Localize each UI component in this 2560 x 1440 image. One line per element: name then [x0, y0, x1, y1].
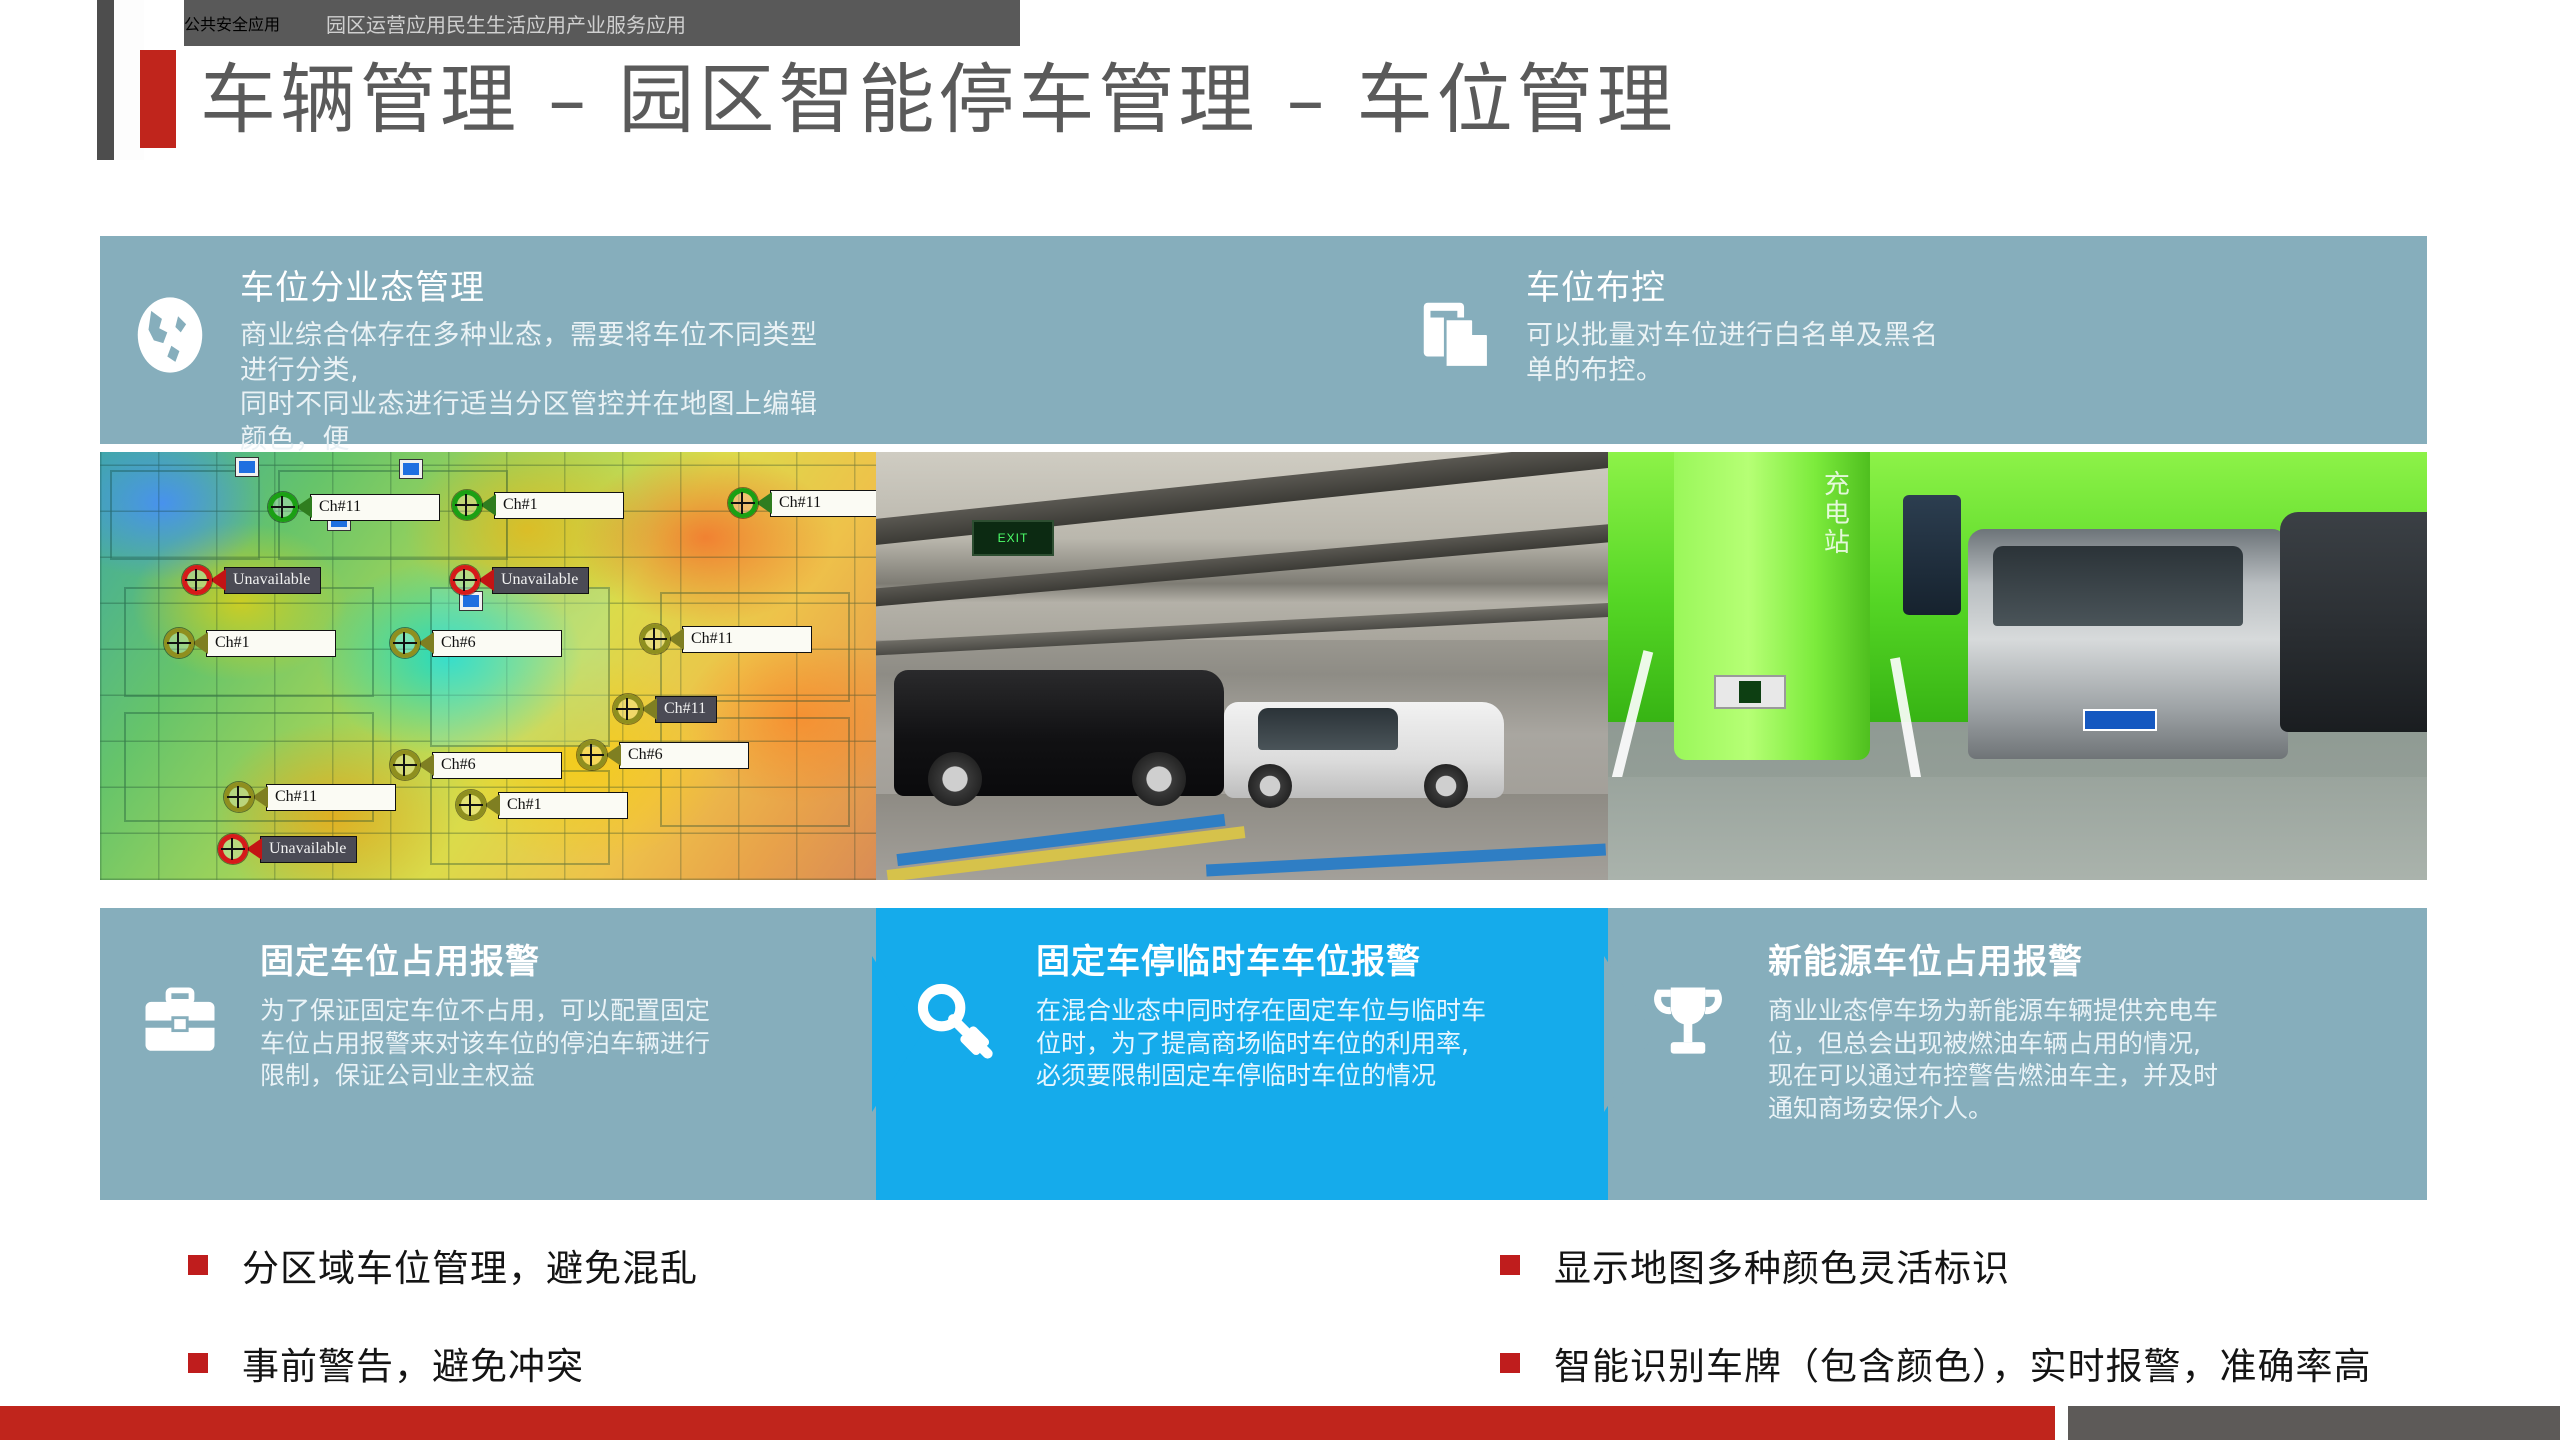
briefcase-icon	[100, 934, 260, 1068]
marker-label: Ch#11	[310, 494, 440, 521]
bullet-list-right: 显示地图多种颜色灵活标识 智能识别车牌（包含颜色），实时报警，准确率高	[1500, 1238, 2372, 1434]
crosshair-marker-icon	[164, 628, 194, 658]
callout-arrow-icon	[641, 698, 657, 720]
heatmap-marker[interactable]: Ch#11	[613, 694, 717, 724]
crosshair-marker-icon	[452, 490, 482, 520]
marker-label: Unavailable	[224, 567, 321, 594]
bullet-text: 分区域车位管理，避免混乱	[242, 1238, 698, 1292]
heatmap-marker[interactable]: Unavailable	[450, 565, 589, 595]
callout-arrow-icon	[605, 744, 621, 766]
bullet-list-left: 分区域车位管理，避免混乱 事前警告，避免冲突	[188, 1238, 698, 1434]
callout-arrow-icon	[192, 632, 208, 654]
marker-label: Ch#6	[432, 752, 562, 779]
callout-arrow-icon	[756, 492, 772, 514]
panel-ev-slot-alarm: 新能源车位占用报警 商业业态停车场为新能源车辆提供充电车 位，但总会出现被燃油车…	[1608, 908, 2427, 1200]
marker-label: Ch#11	[682, 626, 812, 653]
page-title: 车辆管理 – 园区智能停车管理 – 车位管理	[200, 38, 1677, 148]
callout-arrow-icon	[668, 628, 684, 650]
bullet-square-icon	[188, 1353, 208, 1373]
crosshair-marker-icon	[268, 492, 298, 522]
crosshair-marker-icon	[224, 782, 254, 812]
callout-arrow-icon	[252, 786, 268, 808]
callout-arrow-icon	[480, 494, 496, 516]
panel-body: 为了保证固定车位不占用，可以配置固定 车位占用报警来对该车位的停泊车辆进行 限制…	[260, 995, 850, 1093]
chevron-divider	[1604, 956, 1654, 1112]
garage-photo[interactable]: EXIT	[876, 452, 1608, 880]
crosshair-marker-icon	[640, 624, 670, 654]
panel-body: 商业业态停车场为新能源车辆提供充电车 位，但总会出现被燃油车辆占用的情况, 现在…	[1768, 995, 2368, 1125]
heatmap-marker[interactable]: Ch#6	[390, 628, 562, 658]
list-item: 智能识别车牌（包含颜色），实时报警，准确率高	[1500, 1336, 2372, 1390]
marker-label: Ch#11	[770, 490, 876, 517]
bullet-square-icon	[1500, 1255, 1520, 1275]
crosshair-marker-icon	[613, 694, 643, 724]
panel-heading: 新能源车位占用报警	[1768, 934, 2368, 983]
crosshair-marker-icon	[728, 488, 758, 518]
feature-card-parking-control: 车位布控 可以批量对车位进行白名单及黑名 单的布控。	[1386, 236, 2386, 444]
heatmap-marker[interactable]: Unavailable	[182, 565, 321, 595]
heatmap-marker[interactable]: Ch#6	[390, 750, 562, 780]
marker-label: Ch#1	[206, 630, 336, 657]
crosshair-marker-icon	[577, 740, 607, 770]
chevron-divider	[872, 956, 922, 1112]
exit-sign-icon: EXIT	[972, 520, 1054, 556]
callout-arrow-icon	[296, 496, 312, 518]
callout-arrow-icon	[246, 838, 262, 860]
top-feature-panel: 车位分业态管理 商业综合体存在多种业态，需要将车位不同类型进行分类, 同时不同业…	[100, 236, 2427, 444]
panel-heading: 固定车位占用报警	[260, 934, 850, 983]
wheel-icon	[928, 752, 982, 806]
breadcrumb-active[interactable]: 公共安全应用	[184, 11, 280, 35]
callout-arrow-icon	[484, 794, 500, 816]
list-item: 事前警告，避免冲突	[188, 1336, 698, 1390]
marker-label: Unavailable	[492, 567, 589, 594]
heatmap-marker[interactable]: Ch#1	[456, 790, 628, 820]
bullet-text: 事前警告，避免冲突	[242, 1336, 584, 1390]
bullet-square-icon	[1500, 1353, 1520, 1373]
bullet-text: 智能识别车牌（包含颜色），实时报警，准确率高	[1554, 1336, 2372, 1390]
windshield	[1258, 708, 1398, 750]
ev-floor	[1608, 777, 2427, 880]
callout-arrow-icon	[210, 569, 226, 591]
footer-gray-bar	[2068, 1406, 2560, 1440]
heatmap-marker[interactable]: Ch#11	[268, 492, 440, 522]
list-item: 分区域车位管理，避免混乱	[188, 1238, 698, 1292]
title-bar-red-accent	[140, 50, 176, 148]
heatmap-marker[interactable]: Ch#1	[164, 628, 336, 658]
pillar-text: 充电站	[1817, 470, 1854, 557]
crosshair-marker-icon	[390, 750, 420, 780]
crosshair-marker-icon	[218, 834, 248, 864]
ev-charging-photo[interactable]: 充电站	[1608, 452, 2427, 880]
documents-icon	[1386, 250, 1526, 378]
wheel-icon	[1132, 752, 1186, 806]
feature-body: 可以批量对车位进行白名单及黑名 单的布控。	[1526, 319, 2246, 388]
marker-label: Ch#6	[432, 630, 562, 657]
ev-wall-sensor	[1714, 675, 1786, 709]
marker-label: Unavailable	[260, 836, 357, 863]
panel-heading: 固定车停临时车车位报警	[1036, 934, 1581, 983]
marker-label: Ch#11	[266, 784, 396, 811]
marker-label: Ch#6	[619, 742, 749, 769]
crosshair-marker-icon	[182, 565, 212, 595]
panel-temp-slot-alarm: 固定车停临时车车位报警 在混合业态中同时存在固定车位与临时车 位时，为了提高商场…	[876, 908, 1608, 1200]
parking-heatmap[interactable]: Ch#11Ch#1Ch#11UnavailableUnavailableCh#1…	[100, 452, 876, 880]
feature-heading: 车位分业态管理	[240, 260, 840, 309]
crosshair-marker-icon	[450, 565, 480, 595]
heatmap-node-icon	[236, 458, 258, 476]
license-plate	[2083, 709, 2157, 731]
marker-label: Ch#1	[498, 792, 628, 819]
footer-red-bar	[0, 1406, 2055, 1440]
callout-arrow-icon	[478, 569, 494, 591]
marker-label: Ch#11	[655, 696, 717, 723]
heatmap-node-icon	[400, 460, 422, 478]
callout-arrow-icon	[418, 754, 434, 776]
ev-pillar: 充电站	[1674, 452, 1871, 760]
charging-post-icon	[1903, 495, 1961, 615]
feature-card-parking-classification: 车位分业态管理 商业综合体存在多种业态，需要将车位不同类型进行分类, 同时不同业…	[100, 236, 876, 444]
wheel-icon	[1424, 764, 1468, 808]
heatmap-marker[interactable]: Ch#11	[640, 624, 812, 654]
callout-arrow-icon	[418, 632, 434, 654]
wheel-icon	[1248, 764, 1292, 808]
crosshair-marker-icon	[390, 628, 420, 658]
panel-body: 在混合业态中同时存在固定车位与临时车 位时，为了提高商场临时车位的利用率, 必须…	[1036, 995, 1581, 1093]
heatmap-marker[interactable]: Unavailable	[218, 834, 357, 864]
crosshair-marker-icon	[456, 790, 486, 820]
bullet-text: 显示地图多种颜色灵活标识	[1554, 1238, 2010, 1292]
image-row: Ch#11Ch#1Ch#11UnavailableUnavailableCh#1…	[100, 452, 2427, 880]
feature-heading: 车位布控	[1526, 260, 2246, 309]
breadcrumb-rest[interactable]: 园区运营应用民生生活应用产业服务应用	[326, 9, 686, 38]
windshield	[1993, 546, 2243, 626]
marker-label: Ch#1	[494, 492, 624, 519]
dark-car	[2280, 512, 2427, 732]
slide-root: 公共安全应用 园区运营应用民生生活应用产业服务应用 车辆管理 – 园区智能停车管…	[0, 0, 2560, 1440]
list-item: 显示地图多种颜色灵活标识	[1500, 1238, 2372, 1292]
heatmap-marker[interactable]: Ch#1	[452, 490, 624, 520]
bullet-square-icon	[188, 1255, 208, 1275]
heatmap-marker[interactable]: Ch#11	[728, 488, 876, 518]
bottom-feature-row: 固定车位占用报警 为了保证固定车位不占用，可以配置固定 车位占用报警来对该车位的…	[100, 908, 2427, 1200]
globe-icon	[100, 250, 240, 378]
heatmap-marker[interactable]: Ch#6	[577, 740, 749, 770]
panel-fixed-slot-alarm: 固定车位占用报警 为了保证固定车位不占用，可以配置固定 车位占用报警来对该车位的…	[100, 908, 876, 1200]
heatmap-marker[interactable]: Ch#11	[224, 782, 396, 812]
